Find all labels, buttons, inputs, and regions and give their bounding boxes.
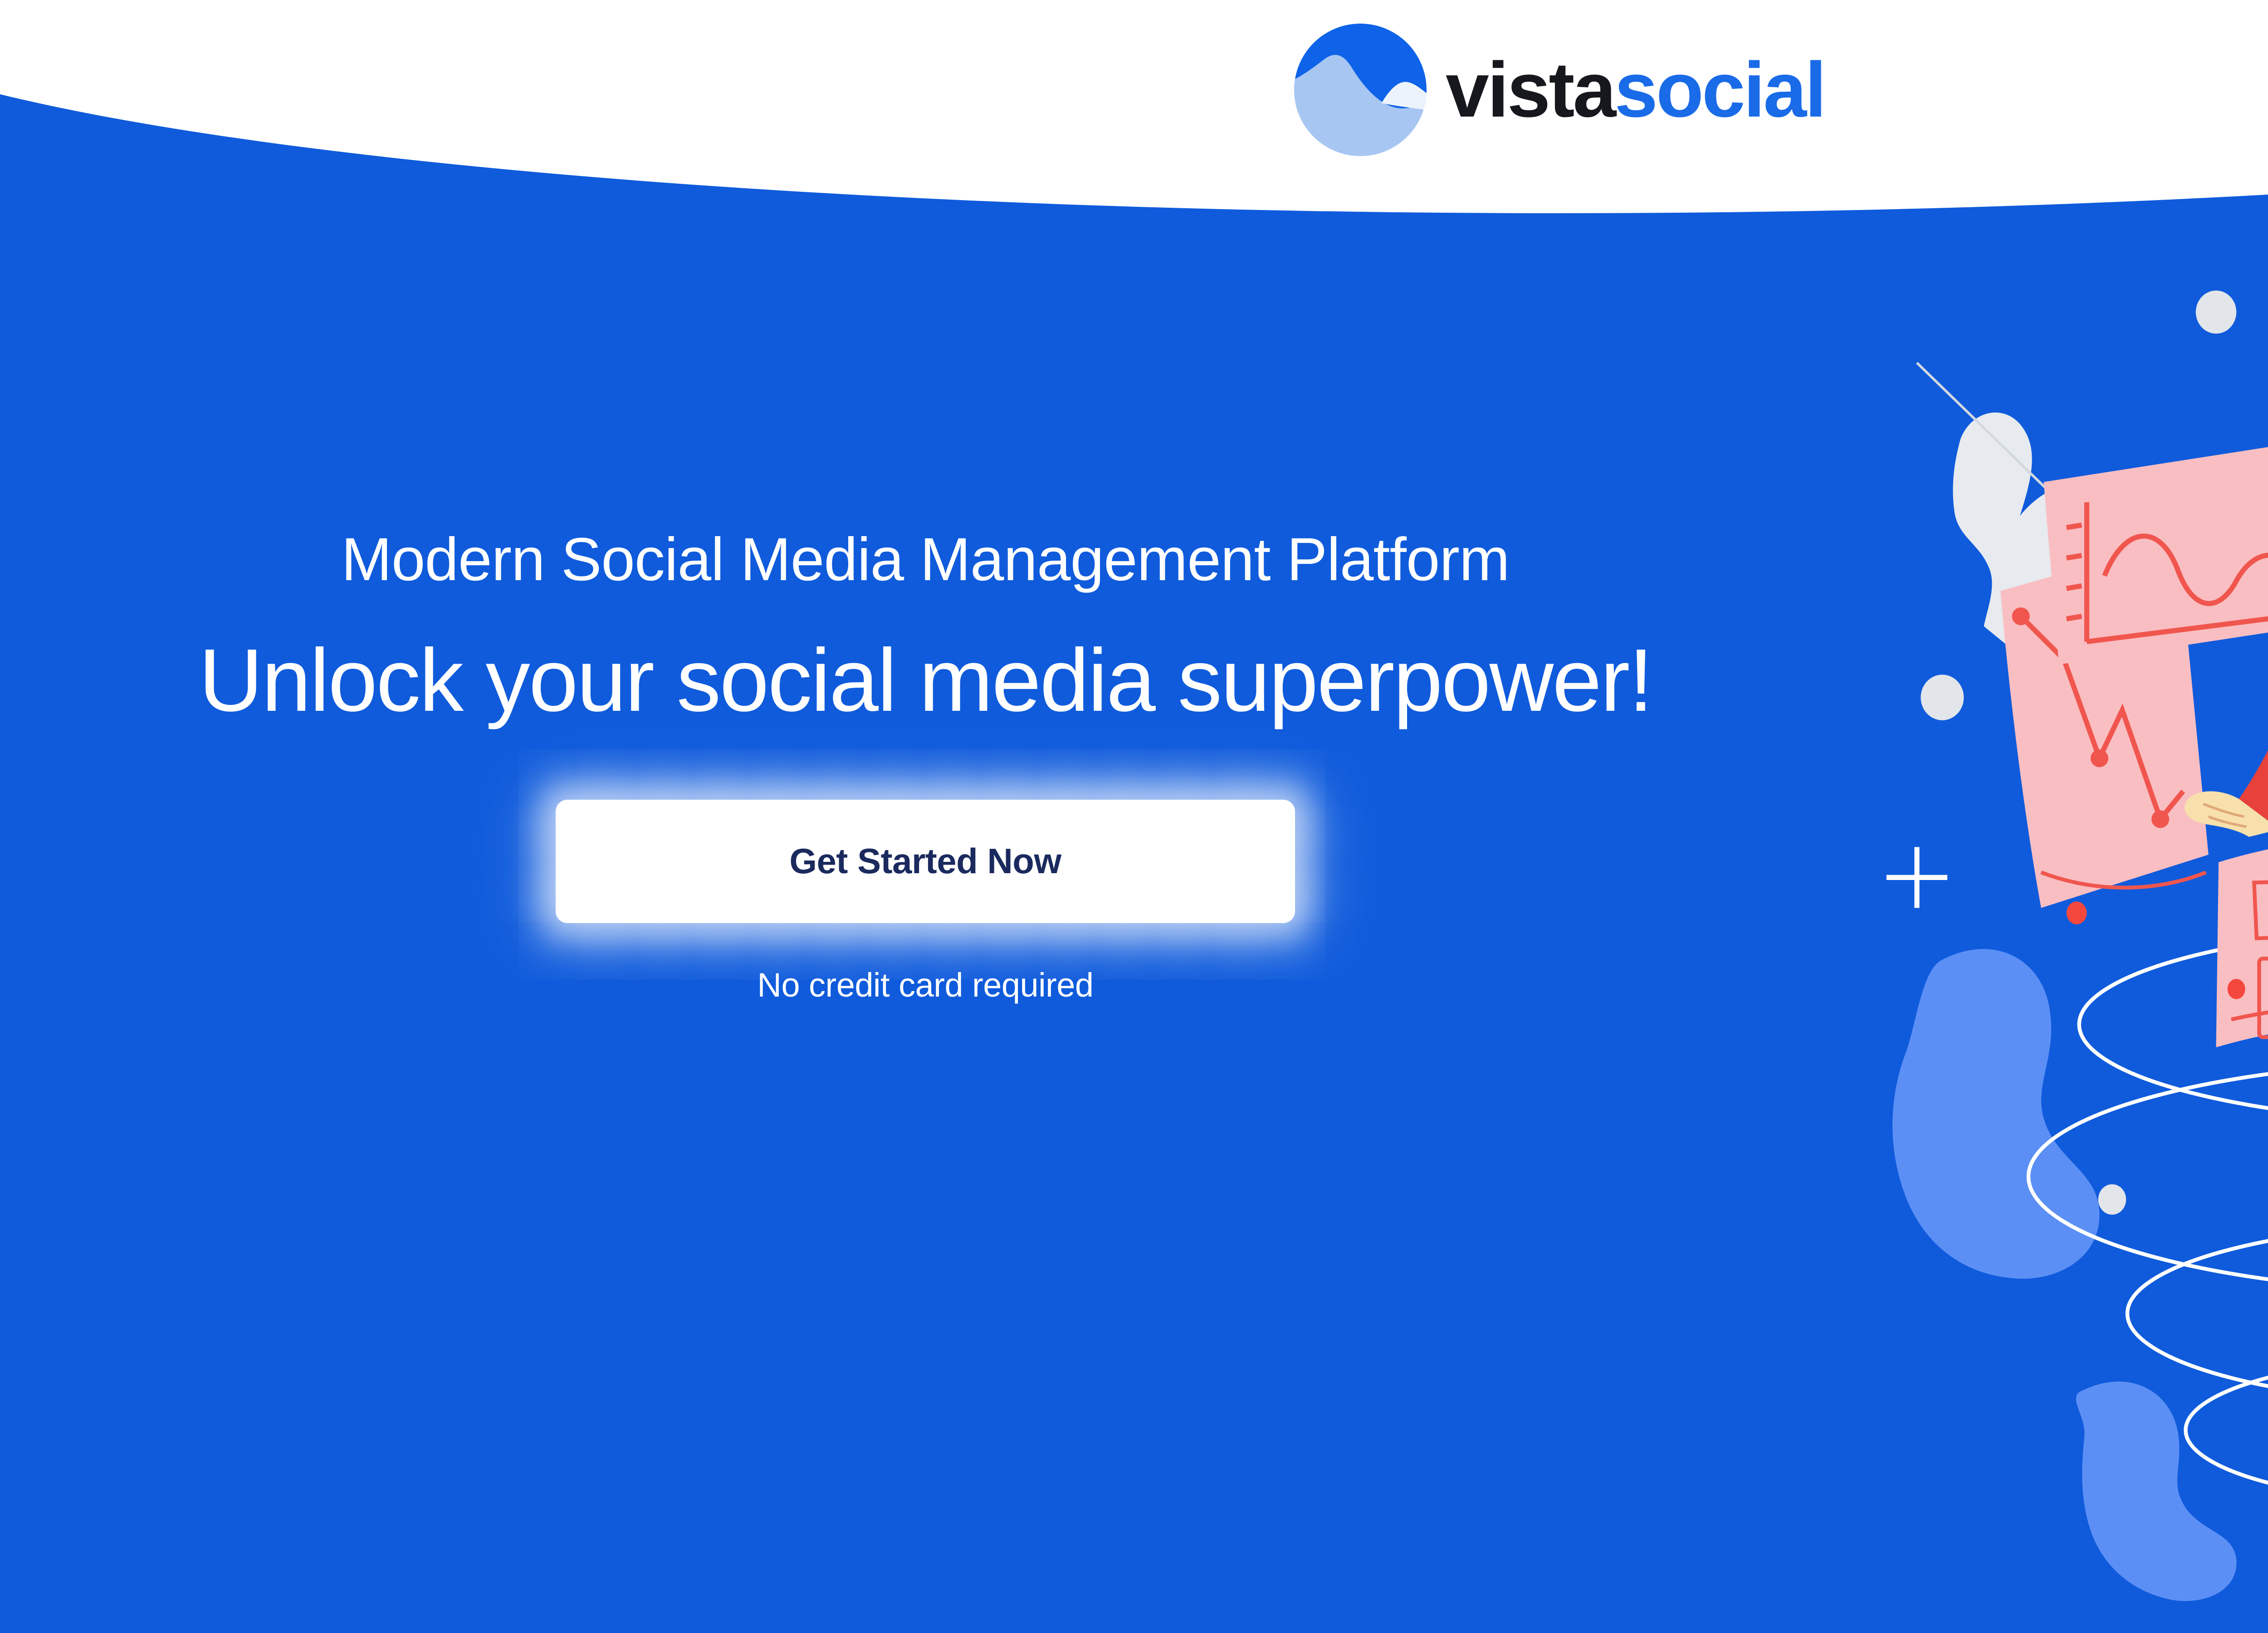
decor-blob-bottom-left	[2076, 1382, 2237, 1601]
get-started-button[interactable]: Get Started Now	[556, 800, 1295, 923]
analytics-hero-illustration	[1851, 213, 2268, 1633]
hero-headline: Unlock your social media superpower!	[199, 629, 1652, 732]
logo-wordmark: vistasocial	[1446, 51, 1825, 129]
orbit-ring-4	[2185, 1357, 2268, 1504]
logo-word-vista: vista	[1446, 51, 1614, 129]
hero-cta-group: Get Started Now No credit card required	[556, 800, 1295, 1004]
hero-eyebrow: Modern Social Media Management Platform	[341, 522, 1509, 598]
panel-bar-chart	[2216, 828, 2268, 1047]
hero-copy-column: Modern Social Media Management Platform …	[0, 213, 1851, 1633]
hero-section: Modern Social Media Management Platform …	[0, 213, 2268, 1633]
no-credit-card-note: No credit card required	[757, 966, 1093, 1004]
decor-blob-mid-left	[1892, 949, 2099, 1279]
vista-social-logo-icon	[1294, 24, 1427, 156]
logo-word-social: social	[1614, 51, 1825, 129]
hero-illustration	[1851, 213, 2268, 1633]
orbit-ring-3	[2127, 1222, 2268, 1405]
panel-wavy-line	[2043, 424, 2268, 665]
brand-logo[interactable]: vistasocial	[0, 0, 2268, 213]
